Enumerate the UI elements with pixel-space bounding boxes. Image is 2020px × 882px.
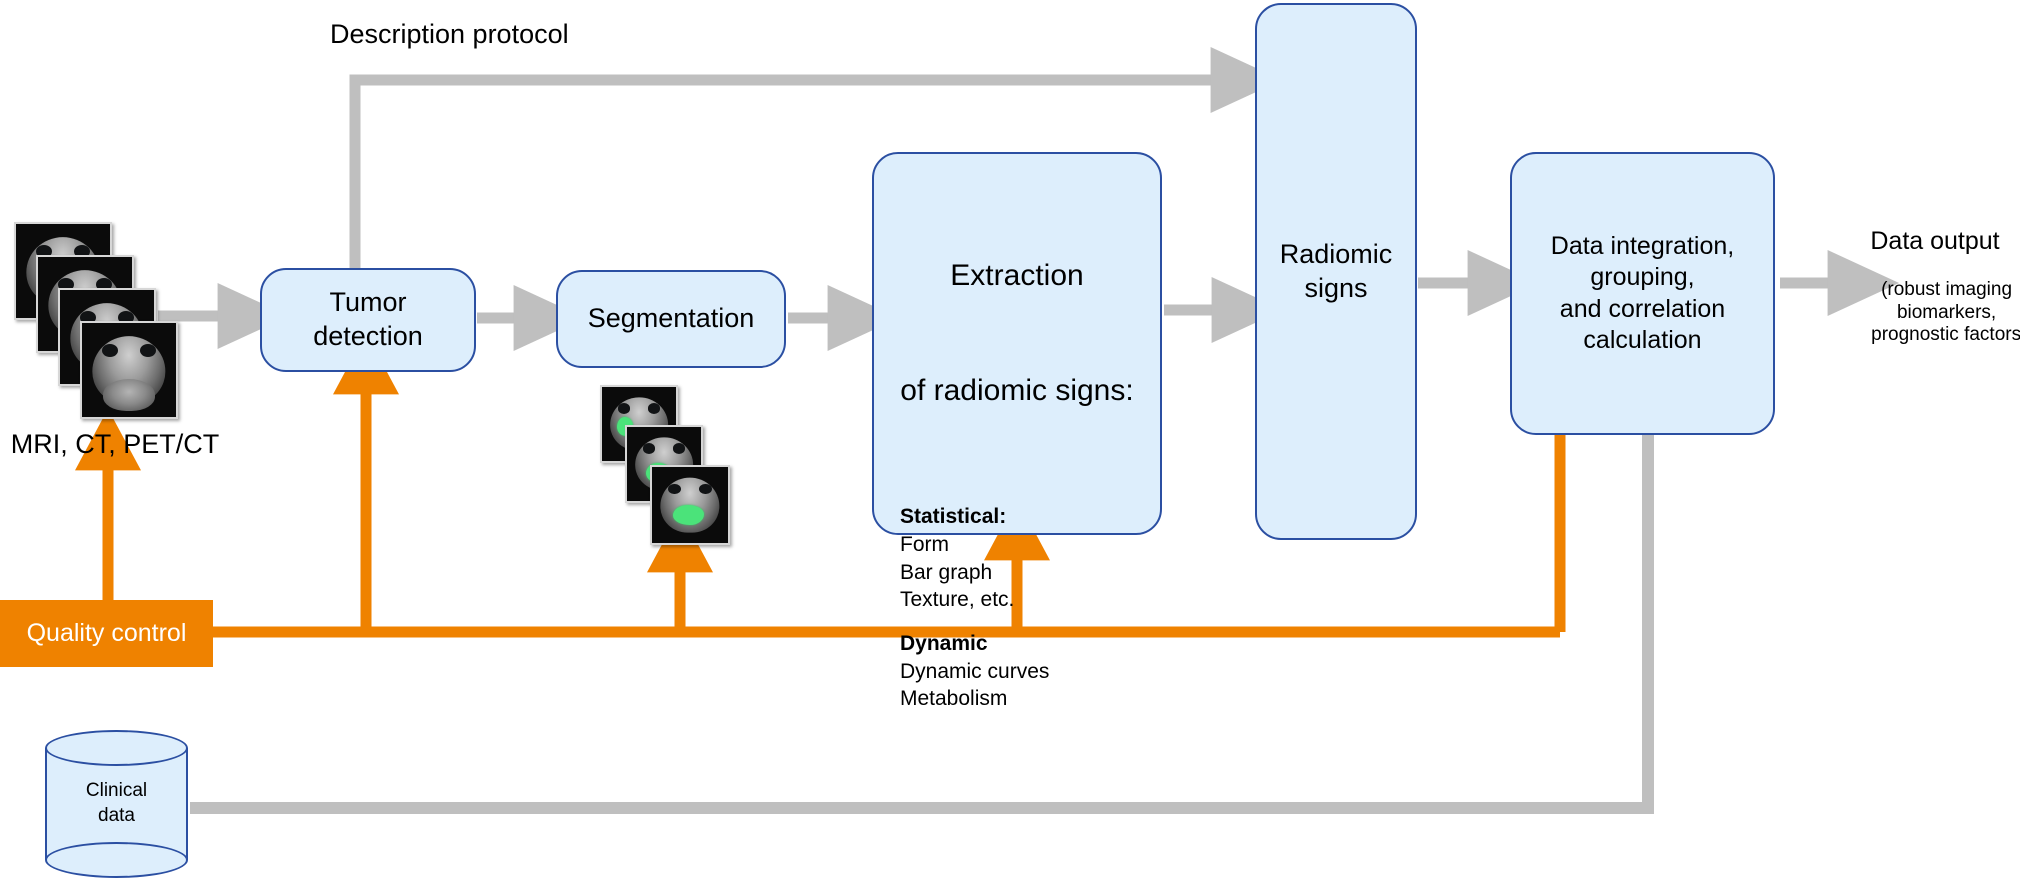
extraction-group1-item: Texture, etc. (900, 586, 1049, 614)
data-output-detail-line3: prognostic factors) (1871, 324, 2020, 345)
node-data-integration-line1: Data integration, (1551, 231, 1734, 262)
extraction-body-spacer (900, 614, 1049, 630)
node-tumor-detection-line1: Tumor (329, 286, 406, 320)
node-tumor-detection[interactable]: Tumor detection (260, 268, 476, 372)
node-radiomic-signs-line2: signs (1304, 272, 1367, 306)
quality-control-label: Quality control (27, 619, 187, 648)
extraction-group1-item: Bar graph (900, 559, 1049, 587)
extraction-group1-heading: Statistical: (900, 503, 1049, 531)
clinical-data-line2: data (98, 804, 135, 829)
node-data-integration-line3: and correlation (1560, 294, 1725, 325)
cerebellum-shape (103, 379, 156, 411)
clinical-data-line1: Clinical (86, 779, 147, 804)
segmented-stack-icon (600, 385, 730, 550)
data-output-title: Data output (1850, 226, 2020, 256)
orbit-right (673, 443, 686, 453)
clinical-data-cylinder[interactable]: Clinical data (45, 730, 188, 878)
node-radiomic-signs[interactable]: Radiomic signs (1255, 3, 1417, 540)
tumor-region (673, 505, 703, 525)
data-output-detail: (robust imaging biomarkers, prognostic f… (1850, 256, 2020, 370)
orbit-right (140, 344, 156, 357)
extraction-title-line1: Extraction (900, 257, 1133, 295)
node-tumor-detection-line2: detection (313, 320, 423, 354)
extraction-title: Extraction of radiomic signs: (900, 180, 1133, 487)
node-data-integration-line4: calculation (1583, 325, 1701, 356)
node-data-integration[interactable]: Data integration, grouping, and correlat… (1510, 152, 1775, 435)
description-protocol-label: Description protocol (330, 18, 630, 50)
quality-control-box[interactable]: Quality control (0, 600, 213, 667)
segmented-slice (650, 465, 730, 545)
node-radiomic-signs-line1: Radiomic (1280, 238, 1393, 272)
extraction-title-line2: of radiomic signs: (900, 372, 1133, 410)
input-modalities-label: MRI, CT, PET/CT (0, 428, 230, 460)
node-data-integration-line2: grouping, (1590, 262, 1694, 293)
node-segmentation[interactable]: Segmentation (556, 270, 786, 368)
extraction-group1-item: Form (900, 531, 1049, 559)
data-output-detail-line1: (robust imaging (1881, 279, 2012, 300)
orbit-right (648, 403, 661, 413)
orbit-left (668, 484, 681, 495)
radiomics-workflow-diagram: MRI, CT, PET/CT Description protocol Tum… (0, 0, 2020, 882)
orbit-left (643, 443, 656, 453)
mri-stack-icon (14, 222, 194, 397)
node-segmentation-line1: Segmentation (588, 302, 755, 336)
clinical-data-label: Clinical data (45, 730, 188, 878)
node-extraction-of-radiomic-signs[interactable]: Extraction of radiomic signs: Statistica… (872, 152, 1162, 535)
extraction-group2-item: Metabolism (900, 685, 1049, 713)
extraction-group2-item: Dynamic curves (900, 658, 1049, 686)
data-output-detail-line2: biomarkers, (1897, 302, 1996, 323)
extraction-group2-heading: Dynamic (900, 630, 1049, 658)
extraction-body: Statistical: Form Bar graph Texture, etc… (900, 503, 1049, 713)
orbit-left (618, 403, 631, 413)
mri-slice (80, 321, 178, 419)
orbit-left (102, 344, 118, 357)
